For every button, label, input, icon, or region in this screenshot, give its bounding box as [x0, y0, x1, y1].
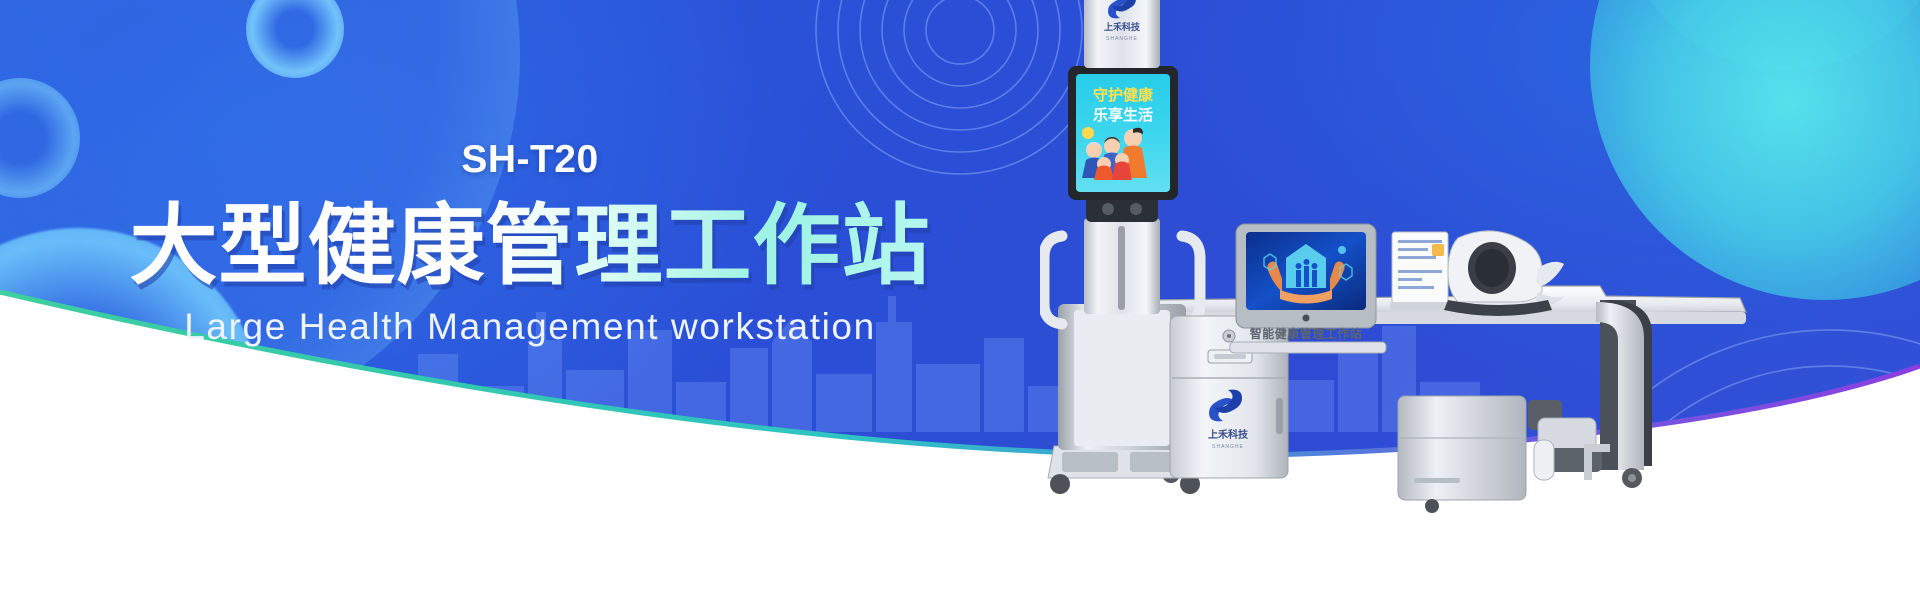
- document-holder: [1390, 232, 1450, 310]
- product-photo: 守护健康 乐享生活: [1040, 0, 1920, 600]
- headline-chinese: 大型健康管理工作站: [0, 199, 1060, 292]
- model-code: SH-T20: [0, 140, 1060, 179]
- cabinet-brand-name: 上禾科技: [1208, 428, 1249, 441]
- product-hero-banner: SH-T20 大型健康管理工作站 Large Health Management…: [0, 0, 1920, 600]
- kiosk-brand-sub: SHANGHE: [1106, 36, 1138, 42]
- desk-monitor: 智能健康管理工作站: [1230, 224, 1386, 353]
- monitor-caption: 智能健康管理工作站: [1249, 326, 1363, 341]
- side-cart: [1398, 396, 1610, 513]
- cabinet-brand-sub: SHANGHE: [1212, 444, 1244, 450]
- kiosk-screen-headline-line2: 乐享生活: [1093, 106, 1153, 124]
- kiosk-brand-name: 上禾科技: [1104, 21, 1141, 32]
- kiosk-screen-headline-line1: 守护健康: [1093, 86, 1154, 104]
- subtitle-english: Large Health Management workstation: [0, 306, 1060, 348]
- banner-copy: SH-T20 大型健康管理工作站 Large Health Management…: [0, 140, 1060, 348]
